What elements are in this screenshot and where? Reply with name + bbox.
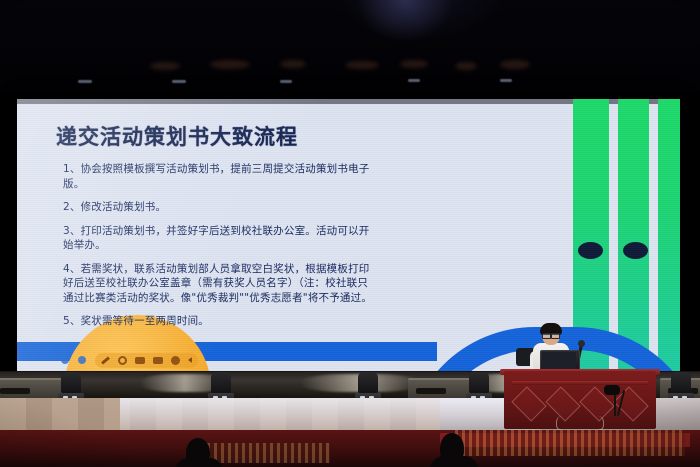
stage-front-slats <box>455 430 685 456</box>
more-options-icon[interactable] <box>171 356 180 365</box>
dark-ellipse-2 <box>623 242 648 259</box>
stage-front-slats <box>200 443 330 463</box>
presentation-slide[interactable]: 递交活动策划书大致流程 1、协会按照模板撰写活动策划书，提前三周提交活动策划书电… <box>17 99 680 371</box>
presenter-tool-pill[interactable] <box>95 353 198 368</box>
podium-diamond-panel <box>512 389 648 419</box>
pointer-dot-icon[interactable] <box>78 356 86 364</box>
notes-icon[interactable] <box>153 357 163 364</box>
slide-item-1: 1、协会按照模板撰写活动策划书，提前三周提交活动策划书电子版。 <box>63 162 373 191</box>
dark-ellipse-1 <box>578 242 603 259</box>
audience-shoulders <box>430 456 478 467</box>
glasses-icon <box>542 333 560 337</box>
stage-equipment <box>604 385 620 395</box>
slide-item-5: 5、奖状需等待一至两周时间。 <box>63 314 373 329</box>
laser-pointer-icon[interactable] <box>118 356 127 365</box>
pointer-dot-icon[interactable] <box>61 356 69 364</box>
slide-body: 1、协会按照模板撰写活动策划书，提前三周提交活动策划书电子版。 2、修改活动策划… <box>63 162 373 338</box>
pen-icon[interactable] <box>101 356 110 364</box>
slide-title: 递交活动策划书大致流程 <box>56 121 298 151</box>
audience-shoulders <box>176 458 222 467</box>
microphone-icon <box>578 340 585 347</box>
slide-item-4: 4、若需奖状，联系活动策划部人员拿取空白奖状，根据模板打印好后送至校社联办公室盖… <box>63 262 373 306</box>
camera-icon[interactable] <box>135 357 145 364</box>
podium-rail <box>512 381 648 385</box>
auditorium-scene: 递交活动策划书大致流程 1、协会按照模板撰写活动策划书，提前三周提交活动策划书电… <box>0 0 700 467</box>
green-stripe-2 <box>618 99 649 371</box>
slide-item-2: 2、修改活动策划书。 <box>63 200 373 215</box>
chevron-left-icon[interactable] <box>188 357 192 363</box>
stage-floor-sheen <box>120 398 540 433</box>
cable-loop <box>556 416 604 431</box>
slide-item-3: 3、打印活动策划书，并签好字后送到校社联办公室。活动可以开始举办。 <box>63 224 373 253</box>
presenter-toolbar[interactable] <box>61 352 198 368</box>
laptop-screen <box>542 352 576 369</box>
green-stripe-3 <box>658 99 680 371</box>
